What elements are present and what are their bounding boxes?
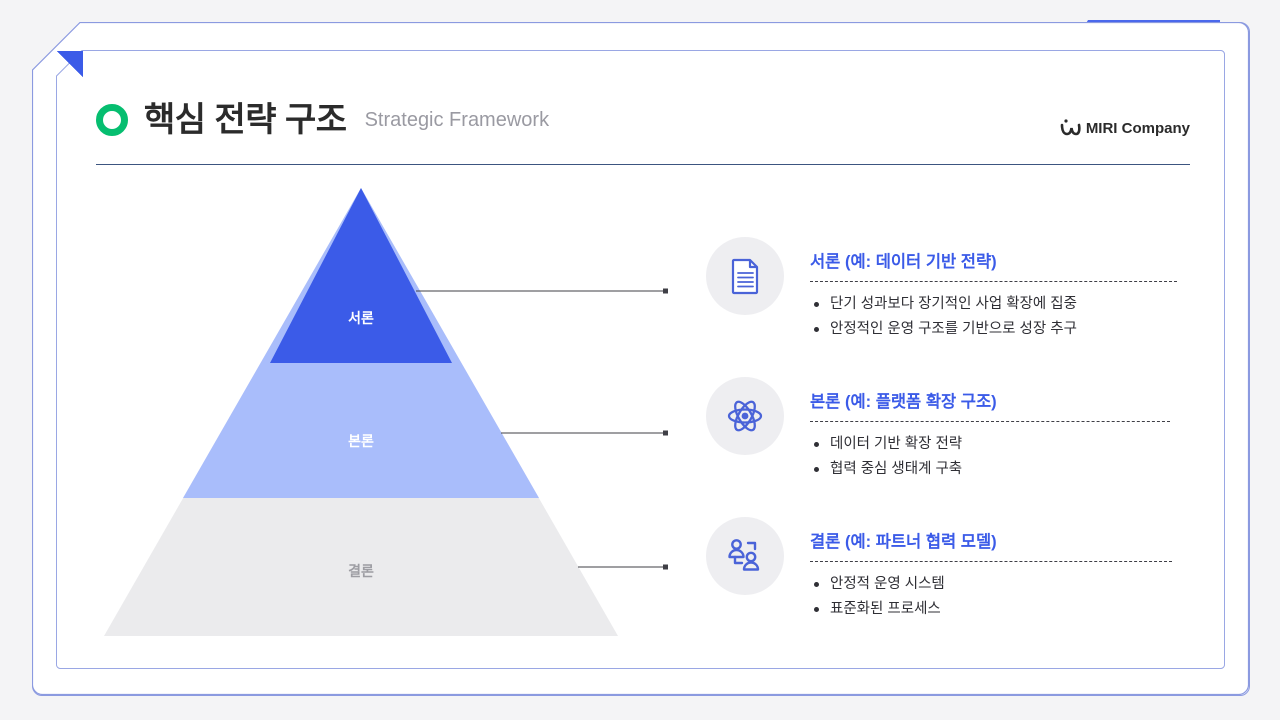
bullet-item: 단기 성과보다 장기적인 사업 확장에 집중 bbox=[810, 292, 1196, 317]
page-subtitle: Strategic Framework bbox=[365, 100, 550, 140]
page-title: 핵심 전략 구조 bbox=[144, 100, 347, 140]
block-divider bbox=[810, 561, 1172, 562]
users-partners-icon-wrapper bbox=[706, 517, 784, 595]
bullet-item: 안정적 운영 시스템 bbox=[810, 572, 1196, 597]
header-divider bbox=[96, 164, 1190, 165]
block-bullet-list: 데이터 기반 확장 전략 협력 중심 생태계 구축 bbox=[810, 432, 1196, 482]
document-icon-wrapper bbox=[706, 237, 784, 315]
bullet-item: 안정적인 운영 구조를 기반으로 성장 추구 bbox=[810, 317, 1196, 342]
content-block[interactable]: 본론 (예: 플랫폼 확장 구조) 데이터 기반 확장 전략 협력 중심 생태계… bbox=[706, 372, 1196, 490]
bullet-item: 표준화된 프로세스 bbox=[810, 597, 1196, 622]
slide-header: 핵심 전략 구조 Strategic Framework MIRI Compan… bbox=[96, 96, 1190, 166]
card-corner-accent bbox=[57, 51, 83, 77]
content-block[interactable]: 서론 (예: 데이터 기반 전략) 단기 성과보다 장기적인 사업 확장에 집중… bbox=[706, 232, 1196, 350]
block-divider bbox=[810, 281, 1177, 282]
block-divider bbox=[810, 421, 1170, 422]
block-title: 본론 (예: 플랫폼 확장 구조) bbox=[810, 392, 1196, 412]
miri-logo-mark-icon bbox=[1059, 118, 1081, 138]
pyramid-tier-label-bottom: 결론 bbox=[104, 561, 618, 581]
block-title: 결론 (예: 파트너 협력 모델) bbox=[810, 532, 1196, 552]
pyramid-tier-label-top: 서론 bbox=[104, 308, 618, 328]
bullet-item: 협력 중심 생태계 구축 bbox=[810, 457, 1196, 482]
circle-ring-icon bbox=[96, 104, 128, 136]
content-block-list: 서론 (예: 데이터 기반 전략) 단기 성과보다 장기적인 사업 확장에 집중… bbox=[706, 232, 1196, 652]
block-bullet-list: 단기 성과보다 장기적인 사업 확장에 집중 안정적인 운영 구조를 기반으로 … bbox=[810, 292, 1196, 342]
pyramid-diagram: 서론 본론 결론 bbox=[104, 188, 618, 636]
brand-name: MIRI Company bbox=[1086, 120, 1190, 137]
bullet-item: 데이터 기반 확장 전략 bbox=[810, 432, 1196, 457]
block-title: 서론 (예: 데이터 기반 전략) bbox=[810, 252, 1196, 272]
brand-logo: MIRI Company bbox=[1059, 118, 1190, 138]
atom-icon bbox=[724, 395, 766, 437]
block-bullet-list: 안정적 운영 시스템 표준화된 프로세스 bbox=[810, 572, 1196, 622]
users-partners-icon bbox=[724, 535, 766, 577]
content-block[interactable]: 결론 (예: 파트너 협력 모델) 안정적 운영 시스템 표준화된 프로세스 bbox=[706, 512, 1196, 630]
pyramid-tier-label-middle: 본론 bbox=[104, 431, 618, 451]
document-icon bbox=[725, 256, 765, 296]
atom-icon-wrapper bbox=[706, 377, 784, 455]
